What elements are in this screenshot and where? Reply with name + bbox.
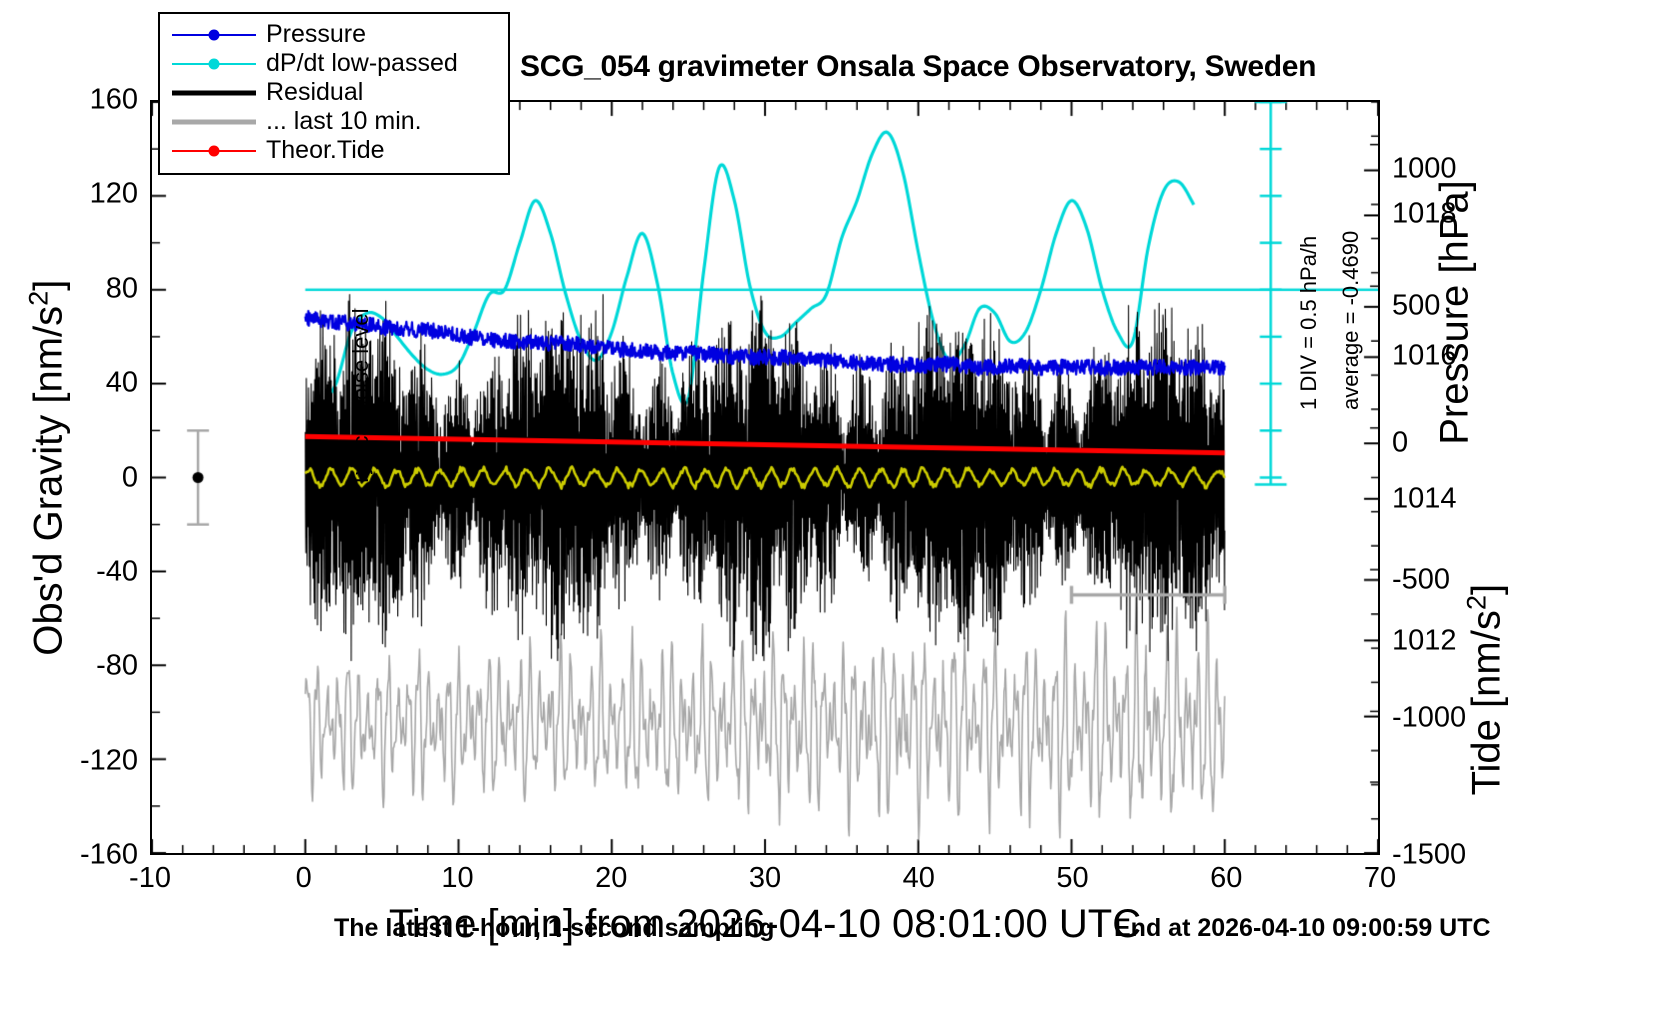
x-tick-0: 0 (296, 862, 312, 895)
y-left-tick--80: -80 (96, 650, 138, 683)
legend-marker-icon (209, 29, 220, 40)
x-axis-title: Time [min] from 2026-04-10 08:01:00 UTC (150, 902, 1380, 947)
legend-label-2: Residual (266, 78, 363, 107)
y-axis-right-tide-title: Tide [nm/s2] (1460, 525, 1509, 855)
y-axis-left-title-sup: 2 (22, 291, 53, 306)
y-right-tide-tick-0: 0 (1392, 427, 1408, 460)
legend-item-0[interactable]: Pressure (170, 20, 498, 49)
y-left-tick--120: -120 (80, 744, 138, 777)
y-axis-right-tide-title-sup: 2 (1460, 595, 1491, 610)
y-axis-right-tide-title-text: Tide [nm/s (1465, 610, 1509, 795)
legend-line-icon (172, 119, 256, 124)
y-left-tick--40: -40 (96, 555, 138, 588)
legend-label-3: ... last 10 min. (266, 107, 422, 136)
y-axis-right-tide-title-tail: ] (1465, 584, 1509, 595)
y-left-tick-0: 0 (122, 461, 138, 494)
x-axis-ticks: -10010203040506070 (150, 862, 1380, 902)
legend-swatch-0 (170, 25, 258, 45)
y-right-tide-tick--1500: -1500 (1392, 839, 1466, 872)
legend-marker-icon (209, 145, 220, 156)
y-left-tick-80: 80 (106, 272, 138, 305)
legend-marker-icon (209, 58, 220, 69)
y-left-tick-120: 120 (90, 178, 138, 211)
x-tick-10: 10 (441, 862, 473, 895)
legend-label-1: dP/dt low-passed (266, 49, 458, 78)
legend-label-4: Theor.Tide (266, 136, 385, 165)
plot-frame: The latest 1-hour, 1-second sampling End… (150, 100, 1380, 855)
plot-canvas (152, 102, 1378, 853)
y-axis-left-title-text: Obs'd Gravity [nm/s (27, 306, 71, 656)
legend: PressuredP/dt low-passedResidual... last… (158, 12, 510, 175)
y-left-tick-40: 40 (106, 367, 138, 400)
legend-item-3[interactable]: ... last 10 min. (170, 107, 498, 136)
legend-line-icon (172, 90, 256, 95)
x-tick-20: 20 (595, 862, 627, 895)
legend-swatch-3 (170, 112, 258, 132)
typical-noise-level-label: Typical noise level (348, 267, 374, 487)
y-axis-left-title: Obs'd Gravity [nm/s2] (22, 88, 71, 848)
legend-item-1[interactable]: dP/dt low-passed (170, 49, 498, 78)
x-tick-60: 60 (1210, 862, 1242, 895)
x-tick-70: 70 (1364, 862, 1396, 895)
y-left-tick-160: 160 (90, 84, 138, 117)
y-right-tide-tick--500: -500 (1392, 564, 1450, 597)
legend-item-4[interactable]: Theor.Tide (170, 136, 498, 165)
x-tick--10: -10 (129, 862, 171, 895)
legend-swatch-1 (170, 54, 258, 74)
cyan-div-note: 1 DIV = 0.5 hPa/h (1296, 236, 1322, 410)
chart-root: SCG_054 gravimeter Onsala Space Observat… (0, 0, 1660, 1020)
legend-label-0: Pressure (266, 20, 366, 49)
y-right-tide-tick--1000: -1000 (1392, 701, 1466, 734)
y-axis-right-pressure-title: Pressure [hPa] (1433, 98, 1478, 528)
y-axis-left-title-tail: ] (27, 280, 71, 291)
legend-swatch-2 (170, 83, 258, 103)
x-tick-30: 30 (749, 862, 781, 895)
cyan-average-note: average = -0.4690 (1338, 231, 1364, 410)
x-tick-50: 50 (1056, 862, 1088, 895)
x-tick-40: 40 (903, 862, 935, 895)
chart-title: SCG_054 gravimeter Onsala Space Observat… (520, 50, 1316, 84)
legend-item-2[interactable]: Residual (170, 78, 498, 107)
legend-swatch-4 (170, 141, 258, 161)
